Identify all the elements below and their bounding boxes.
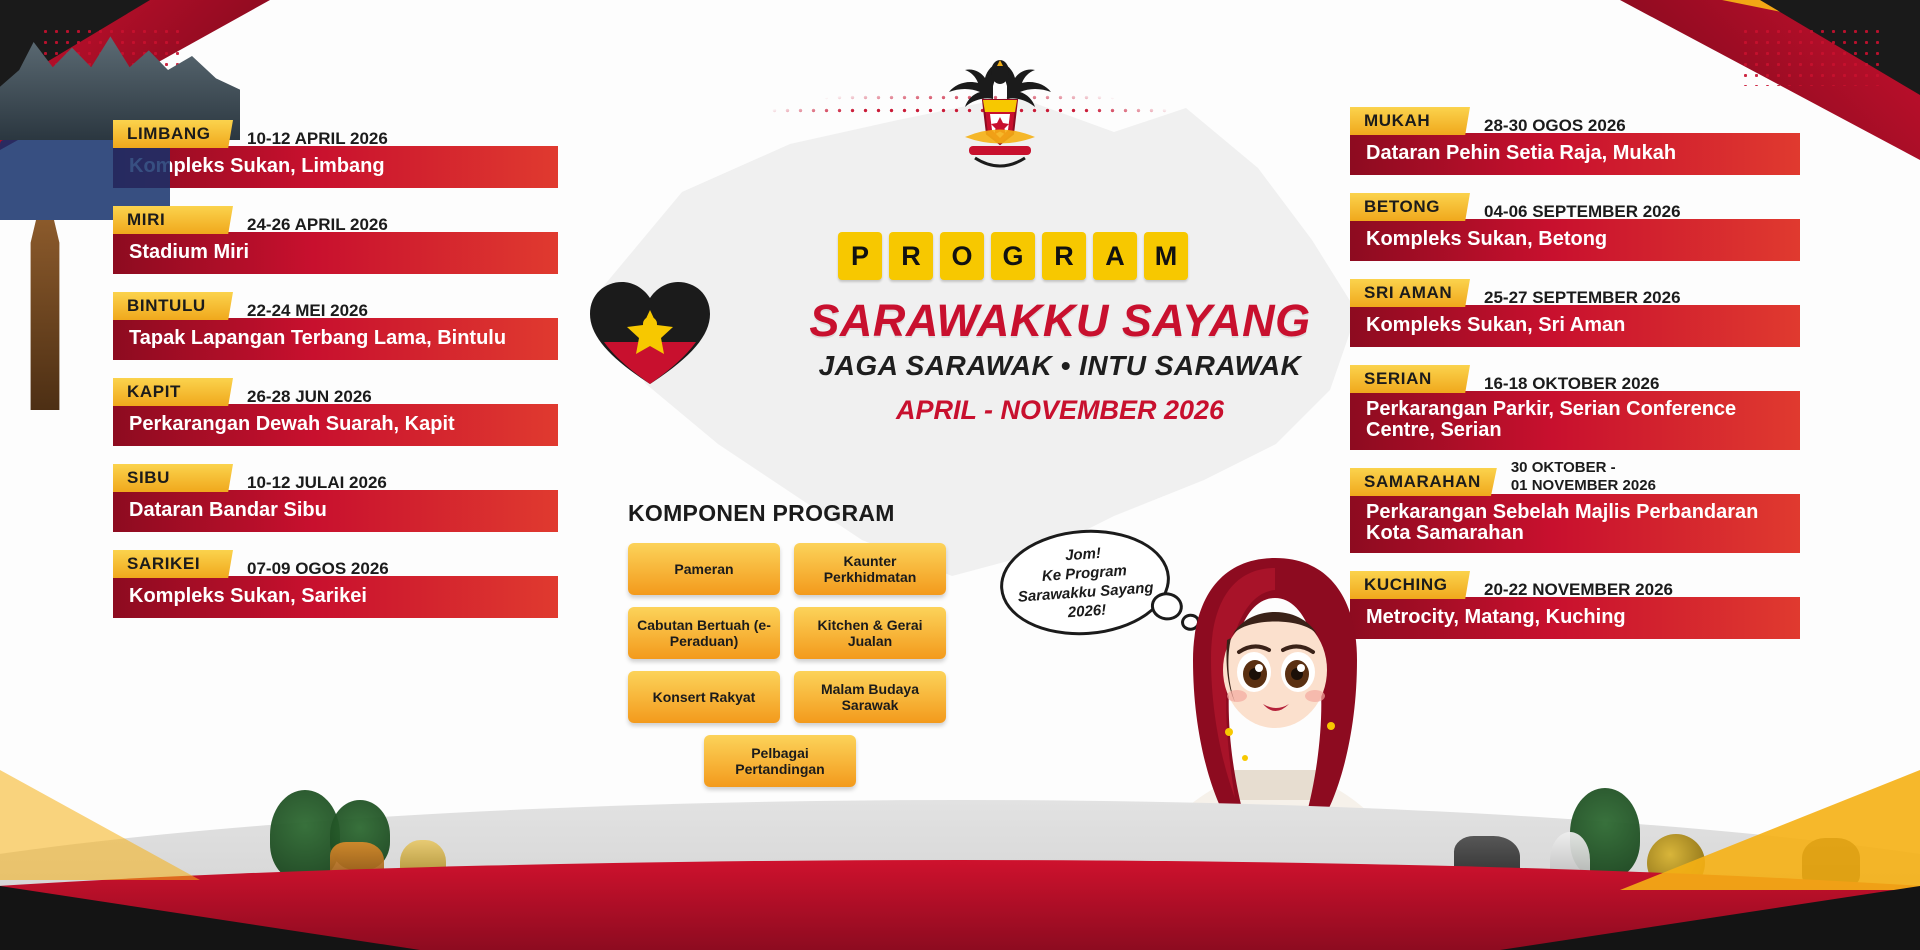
event-date: 24-26 APRIL 2026 [233,216,388,234]
komponen-chip-grid: Pameran Kaunter Perkhidmatan Cabutan Ber… [628,543,958,787]
event-card-betong: BETONG 04-06 SEPTEMBER 2026 Kompleks Suk… [1350,191,1800,261]
bottom-decor-yellow-left [0,770,200,880]
event-date: 10-12 JULAI 2026 [233,474,387,492]
event-card-kuching: KUCHING 20-22 NOVEMBER 2026 Metrocity, M… [1350,569,1800,639]
event-place-tab: MIRI [113,206,233,234]
event-place-tab: BETONG [1350,193,1470,221]
event-header: BINTULU 22-24 MEI 2026 [113,290,558,320]
poster-title-main: SARAWAKKU SAYANG [750,295,1370,347]
event-date: 28-30 OGOS 2026 [1470,117,1626,135]
program-tile-7: M [1144,232,1188,280]
event-place-tab: MUKAH [1350,107,1470,135]
dot-pattern-right [1740,26,1880,86]
event-venue: Kompleks Sukan, Sarikei [113,576,558,618]
event-card-kapit: KAPIT 26-28 JUN 2026 Perkarangan Dewah S… [113,376,558,446]
event-venue: Kompleks Sukan, Limbang [113,146,558,188]
event-date: 04-06 SEPTEMBER 2026 [1470,203,1681,221]
poster-title-sub: JAGA SARAWAK • INTU SARAWAK [750,350,1370,382]
event-date: 30 OKTOBER - 01 NOVEMBER 2026 [1497,459,1656,496]
komponen-program-title: KOMPONEN PROGRAM [628,500,958,527]
event-venue: Dataran Bandar Sibu [113,490,558,532]
komponen-chip-kaunter-perkhidmatan: Kaunter Perkhidmatan [794,543,946,595]
event-venue: Perkarangan Sebelah Majlis Perbandaran K… [1350,494,1800,553]
event-date: 16-18 OKTOBER 2026 [1470,375,1659,393]
heart-flag-logo-icon [580,272,720,392]
event-list-right: MUKAH 28-30 OGOS 2026 Dataran Pehin Seti… [1350,105,1800,655]
sarawak-coat-of-arms-icon [935,42,1065,177]
event-venue: Perkarangan Dewah Suarah, Kapit [113,404,558,446]
event-header: MIRI 24-26 APRIL 2026 [113,204,558,234]
event-card-mukah: MUKAH 28-30 OGOS 2026 Dataran Pehin Seti… [1350,105,1800,175]
clock-tower-silhouette [0,220,90,410]
event-card-miri: MIRI 24-26 APRIL 2026 Stadium Miri [113,204,558,274]
event-card-sarikei: SARIKEI 07-09 OGOS 2026 Kompleks Sukan, … [113,548,558,618]
event-header: SRI AMAN 25-27 SEPTEMBER 2026 [1350,277,1800,307]
komponen-chip-cabutan-bertuah: Cabutan Bertuah (e-Peraduan) [628,607,780,659]
komponen-chip-konsert-rakyat: Konsert Rakyat [628,671,780,723]
event-header: KAPIT 26-28 JUN 2026 [113,376,558,406]
event-place-tab: KAPIT [113,378,233,406]
event-place-tab: SERIAN [1350,365,1470,393]
program-title-tiles: P R O G R A M [838,232,1188,280]
program-tile-6: A [1093,232,1137,280]
event-venue: Dataran Pehin Setia Raja, Mukah [1350,133,1800,175]
event-place-tab: SIBU [113,464,233,492]
event-venue: Metrocity, Matang, Kuching [1350,597,1800,639]
komponen-program-section: KOMPONEN PROGRAM Pameran Kaunter Perkhid… [628,500,958,787]
program-tile-4: G [991,232,1035,280]
event-date: 10-12 APRIL 2026 [233,130,388,148]
komponen-chip-pameran: Pameran [628,543,780,595]
event-place-tab: BINTULU [113,292,233,320]
event-header: LIMBANG 10-12 APRIL 2026 [113,118,558,148]
event-venue: Kompleks Sukan, Betong [1350,219,1800,261]
event-date: 07-09 OGOS 2026 [233,560,389,578]
event-venue: Stadium Miri [113,232,558,274]
event-header: MUKAH 28-30 OGOS 2026 [1350,105,1800,135]
event-card-samarahan: SAMARAHAN 30 OKTOBER - 01 NOVEMBER 2026 … [1350,466,1800,553]
event-header: SIBU 10-12 JULAI 2026 [113,462,558,492]
komponen-chip-kitchen-gerai-jualan: Kitchen & Gerai Jualan [794,607,946,659]
event-place-tab: LIMBANG [113,120,233,148]
program-tile-5: R [1042,232,1086,280]
event-place-tab: SARIKEI [113,550,233,578]
event-venue: Kompleks Sukan, Sri Aman [1350,305,1800,347]
poster-root: P R O G R A M SARAWAKKU SAYANG JAGA SARA… [0,0,1920,950]
program-tile-1: P [838,232,882,280]
event-date: 25-27 SEPTEMBER 2026 [1470,289,1681,307]
poster-title-dates: APRIL - NOVEMBER 2026 [750,395,1370,426]
event-venue: Tapak Lapangan Terbang Lama, Bintulu [113,318,558,360]
event-list-left: LIMBANG 10-12 APRIL 2026 Kompleks Sukan,… [113,118,558,634]
event-header: SERIAN 16-18 OKTOBER 2026 [1350,363,1800,393]
event-header: SARIKEI 07-09 OGOS 2026 [113,548,558,578]
event-place-tab: SAMARAHAN [1350,468,1497,496]
event-header: KUCHING 20-22 NOVEMBER 2026 [1350,569,1800,599]
event-date: 22-24 MEI 2026 [233,302,368,320]
event-place-tab: KUCHING [1350,571,1470,599]
event-card-sri-aman: SRI AMAN 25-27 SEPTEMBER 2026 Kompleks S… [1350,277,1800,347]
event-card-bintulu: BINTULU 22-24 MEI 2026 Tapak Lapangan Te… [113,290,558,360]
event-venue: Perkarangan Parkir, Serian Conference Ce… [1350,391,1800,450]
event-date: 26-28 JUN 2026 [233,388,372,406]
program-tile-2: R [889,232,933,280]
event-card-limbang: LIMBANG 10-12 APRIL 2026 Kompleks Sukan,… [113,118,558,188]
komponen-chip-pelbagai-pertandingan: Pelbagai Pertandingan [704,735,856,787]
komponen-chip-malam-budaya-sarawak: Malam Budaya Sarawak [794,671,946,723]
event-card-serian: SERIAN 16-18 OKTOBER 2026 Perkarangan Pa… [1350,363,1800,450]
event-date: 20-22 NOVEMBER 2026 [1470,581,1673,599]
event-place-tab: SRI AMAN [1350,279,1470,307]
event-card-sibu: SIBU 10-12 JULAI 2026 Dataran Bandar Sib… [113,462,558,532]
program-tile-3: O [940,232,984,280]
event-header: BETONG 04-06 SEPTEMBER 2026 [1350,191,1800,221]
event-header: SAMARAHAN 30 OKTOBER - 01 NOVEMBER 2026 [1350,466,1800,496]
